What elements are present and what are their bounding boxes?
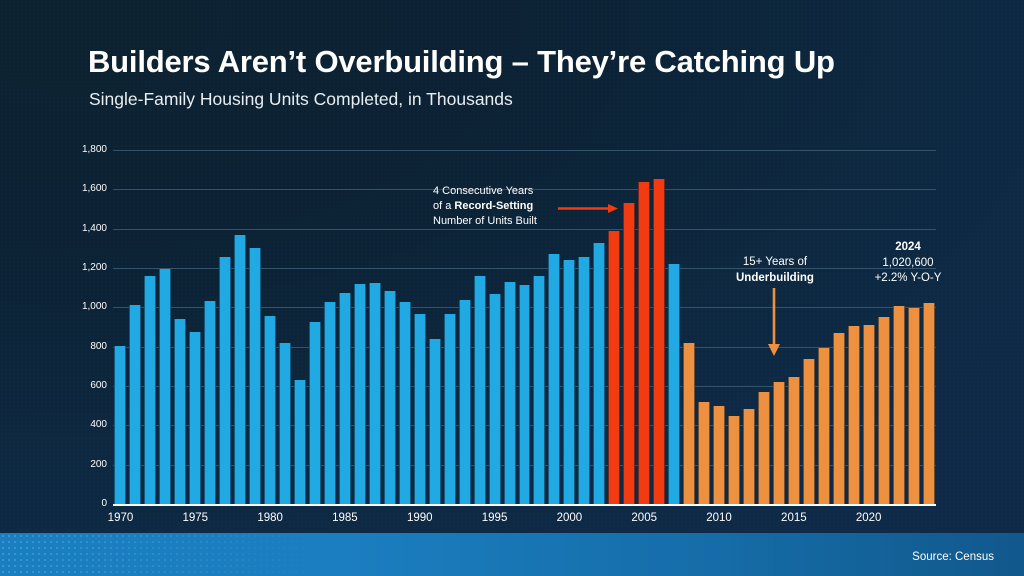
annotation-underbuilding-line2: Underbuilding bbox=[736, 270, 814, 286]
y-axis-tick-label: 200 bbox=[61, 459, 107, 470]
annotation-record-line2: of a Record-Setting bbox=[433, 199, 537, 214]
bar-1996[interactable] bbox=[504, 282, 516, 504]
y-axis-tick-label: 1,000 bbox=[61, 301, 107, 312]
annotation-underbuilding: 15+ Years of Underbuilding bbox=[736, 254, 814, 286]
bar-1994[interactable] bbox=[474, 276, 486, 504]
page-title: Builders Aren’t Overbuilding – They’re C… bbox=[88, 44, 835, 80]
x-axis-tick-label: 1990 bbox=[407, 512, 433, 524]
x-axis-tick-label: 1970 bbox=[108, 512, 134, 524]
bar-2006[interactable] bbox=[653, 179, 665, 504]
bar-1981[interactable] bbox=[279, 343, 291, 504]
x-axis-tick-label: 2000 bbox=[557, 512, 583, 524]
arrow-down-icon bbox=[766, 288, 782, 356]
bar-1984[interactable] bbox=[324, 302, 336, 504]
bar-2009[interactable] bbox=[698, 402, 710, 504]
annotation-record-setting: 4 Consecutive Years of a Record-Setting … bbox=[433, 184, 537, 229]
y-axis-tick-label: 1,800 bbox=[61, 144, 107, 155]
source-label: Source: Census bbox=[912, 551, 994, 563]
bar-2007[interactable] bbox=[668, 264, 680, 504]
bar-1974[interactable] bbox=[174, 319, 186, 504]
bar-1997[interactable] bbox=[519, 285, 531, 504]
bar-1970[interactable] bbox=[114, 346, 126, 504]
x-axis-tick-label: 1975 bbox=[183, 512, 209, 524]
arrow-right-icon bbox=[558, 204, 618, 213]
annotation-record-line3: Number of Units Built bbox=[433, 214, 537, 229]
bar-1983[interactable] bbox=[309, 322, 321, 504]
bar-2010[interactable] bbox=[713, 406, 725, 504]
annotation-underbuilding-bold: Underbuilding bbox=[736, 272, 814, 284]
bar-2001[interactable] bbox=[578, 257, 590, 504]
bar-2012[interactable] bbox=[743, 409, 755, 504]
bar-2019[interactable] bbox=[848, 326, 860, 504]
y-axis-tick-label: 1,600 bbox=[61, 183, 107, 194]
bar-2023[interactable] bbox=[908, 308, 920, 504]
annotation-record-line1: 4 Consecutive Years bbox=[433, 184, 537, 199]
y-axis-tick-label: 1,200 bbox=[61, 262, 107, 273]
bar-1976[interactable] bbox=[204, 301, 216, 504]
bar-1978[interactable] bbox=[234, 235, 246, 504]
bar-1980[interactable] bbox=[264, 316, 276, 504]
bar-2013[interactable] bbox=[758, 392, 770, 504]
y-axis-tick-label: 0 bbox=[61, 498, 107, 509]
callout-2024: 2024 1,020,600 +2.2% Y-O-Y bbox=[852, 240, 964, 287]
callout-year: 2024 bbox=[852, 240, 964, 256]
bar-1998[interactable] bbox=[533, 276, 545, 504]
bar-2021[interactable] bbox=[878, 317, 890, 504]
bar-2018[interactable] bbox=[833, 333, 845, 504]
bar-2024[interactable] bbox=[923, 303, 935, 504]
y-axis-tick-label: 1,400 bbox=[61, 223, 107, 234]
callout-value: 1,020,600 bbox=[852, 256, 964, 272]
bar-1995[interactable] bbox=[489, 294, 501, 504]
bar-1979[interactable] bbox=[249, 248, 261, 504]
bar-1985[interactable] bbox=[339, 293, 351, 504]
bar-2022[interactable] bbox=[893, 306, 905, 504]
bar-2017[interactable] bbox=[818, 348, 830, 504]
bar-2000[interactable] bbox=[563, 260, 575, 504]
footer-band bbox=[0, 533, 1024, 576]
bar-1972[interactable] bbox=[144, 276, 156, 504]
x-axis-tick-label: 2020 bbox=[856, 512, 882, 524]
bar-1999[interactable] bbox=[548, 254, 560, 504]
x-axis-tick-label: 2015 bbox=[781, 512, 807, 524]
bar-1992[interactable] bbox=[444, 314, 456, 504]
x-axis-tick-label: 1985 bbox=[332, 512, 358, 524]
bar-2020[interactable] bbox=[863, 325, 875, 504]
y-axis-tick-label: 800 bbox=[61, 341, 107, 352]
callout-change: +2.2% Y-O-Y bbox=[852, 271, 964, 287]
bar-1991[interactable] bbox=[429, 339, 441, 504]
bar-2011[interactable] bbox=[728, 416, 740, 504]
page-subtitle: Single-Family Housing Units Completed, i… bbox=[89, 89, 513, 110]
bar-1990[interactable] bbox=[414, 314, 426, 504]
bar-1975[interactable] bbox=[189, 332, 201, 504]
x-axis-tick-label: 2005 bbox=[631, 512, 657, 524]
slide-canvas: Builders Aren’t Overbuilding – They’re C… bbox=[0, 0, 1024, 576]
annotation-record-line2-bold: Record-Setting bbox=[454, 200, 533, 212]
bar-1977[interactable] bbox=[219, 257, 231, 504]
bar-2005[interactable] bbox=[638, 182, 650, 504]
bar-1988[interactable] bbox=[384, 291, 396, 504]
bar-1986[interactable] bbox=[354, 284, 366, 504]
bar-2016[interactable] bbox=[803, 359, 815, 504]
x-axis-tick-label: 1995 bbox=[482, 512, 508, 524]
bar-2015[interactable] bbox=[788, 377, 800, 504]
y-axis-tick-label: 400 bbox=[61, 419, 107, 430]
bar-1982[interactable] bbox=[294, 380, 306, 504]
annotation-underbuilding-line1: 15+ Years of bbox=[736, 254, 814, 270]
x-axis-tick-label: 1980 bbox=[257, 512, 283, 524]
bar-1993[interactable] bbox=[459, 300, 471, 504]
bar-2014[interactable] bbox=[773, 382, 785, 504]
bar-1989[interactable] bbox=[399, 302, 411, 504]
bar-1973[interactable] bbox=[159, 269, 171, 504]
y-axis-tick-label: 600 bbox=[61, 380, 107, 391]
axis-baseline bbox=[113, 504, 936, 506]
bar-2008[interactable] bbox=[683, 343, 695, 504]
bar-2003[interactable] bbox=[608, 231, 620, 504]
bar-2002[interactable] bbox=[593, 243, 605, 504]
bar-2004[interactable] bbox=[623, 203, 635, 504]
bar-1971[interactable] bbox=[129, 305, 141, 504]
bar-1987[interactable] bbox=[369, 283, 381, 504]
annotation-record-line2-prefix: of a bbox=[433, 200, 454, 212]
x-axis-tick-label: 2010 bbox=[706, 512, 732, 524]
